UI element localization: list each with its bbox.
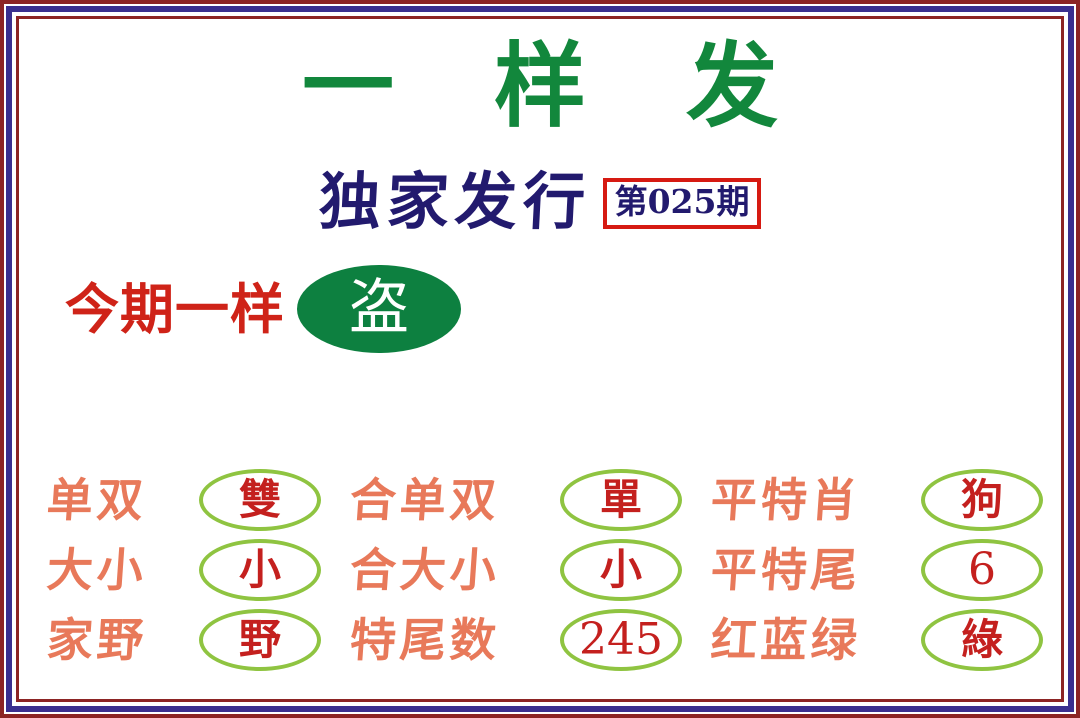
poster-frame-indigo: 一 样 发 独家发行 第025期 今期一样 盗 (6, 6, 1074, 712)
prediction-value: 單 (600, 479, 642, 521)
prediction-value: 雙 (239, 479, 281, 521)
prediction-value: 小 (239, 549, 281, 591)
prediction-value: 狗 (961, 479, 1003, 521)
highlight-chip-value: 盗 (349, 278, 409, 338)
prediction-value-ellipse: 245 (560, 609, 682, 671)
prediction-label: 大小 (45, 547, 198, 593)
prediction-value: 野 (239, 619, 281, 661)
prediction-row: 合大小 小 (350, 539, 682, 601)
prediction-value-ellipse: 小 (199, 539, 321, 601)
prediction-value-ellipse: 單 (560, 469, 682, 531)
prediction-row: 家野 野 (47, 609, 321, 671)
highlight-chip: 盗 (297, 265, 461, 353)
prediction-row: 平特尾 6 (711, 539, 1043, 601)
prediction-column-1: 单双 雙 大小 小 (47, 469, 321, 671)
prediction-label: 平特肖 (709, 477, 920, 523)
prediction-value-ellipse: 小 (560, 539, 682, 601)
prediction-row: 大小 小 (47, 539, 321, 601)
prediction-label: 特尾数 (348, 617, 559, 663)
prediction-row: 平特肖 狗 (711, 469, 1043, 531)
prediction-value: 6 (968, 548, 996, 592)
prediction-row: 红蓝绿 綠 (711, 609, 1043, 671)
prediction-value-ellipse: 雙 (199, 469, 321, 531)
poster-frame-dark-red: 一 样 发 独家发行 第025期 今期一样 盗 (16, 16, 1064, 702)
prediction-value: 小 (600, 549, 642, 591)
prediction-value-ellipse: 綠 (921, 609, 1043, 671)
prediction-label: 红蓝绿 (709, 617, 920, 663)
subtitle-text: 独家发行 (317, 171, 592, 233)
page-title: 一 样 发 (19, 37, 1061, 136)
prediction-label: 平特尾 (709, 547, 920, 593)
issue-number-badge: 第025期 (603, 178, 762, 229)
poster-frame-white-gap-outer: 一 样 发 独家发行 第025期 今期一样 盗 (4, 4, 1076, 714)
prediction-row: 合单双 單 (350, 469, 682, 531)
prediction-value: 綠 (961, 619, 1003, 661)
prediction-label: 家野 (45, 617, 198, 663)
prediction-label: 合大小 (348, 547, 559, 593)
prediction-value: 245 (579, 618, 663, 662)
highlight-row: 今期一样 盗 (65, 265, 461, 353)
poster-canvas: 一 样 发 独家发行 第025期 今期一样 盗 (19, 19, 1061, 699)
prediction-grid: 单双 雙 大小 小 (47, 469, 1043, 671)
prediction-label: 单双 (45, 477, 198, 523)
prediction-row: 特尾数 245 (350, 609, 682, 671)
poster-frame-white-gap-inner: 一 样 发 独家发行 第025期 今期一样 盗 (12, 12, 1068, 706)
subtitle-row: 独家发行 第025期 (19, 171, 1061, 233)
prediction-column-3: 平特肖 狗 平特尾 6 (711, 469, 1043, 671)
prediction-value-ellipse: 狗 (921, 469, 1043, 531)
prediction-value-ellipse: 6 (921, 539, 1043, 601)
prediction-row: 单双 雙 (47, 469, 321, 531)
prediction-label: 合单双 (348, 477, 559, 523)
prediction-column-2: 合单双 單 合大小 小 (350, 469, 682, 671)
highlight-label: 今期一样 (65, 282, 285, 336)
poster-frame-outer: 一 样 发 独家发行 第025期 今期一样 盗 (0, 0, 1080, 718)
prediction-value-ellipse: 野 (199, 609, 321, 671)
